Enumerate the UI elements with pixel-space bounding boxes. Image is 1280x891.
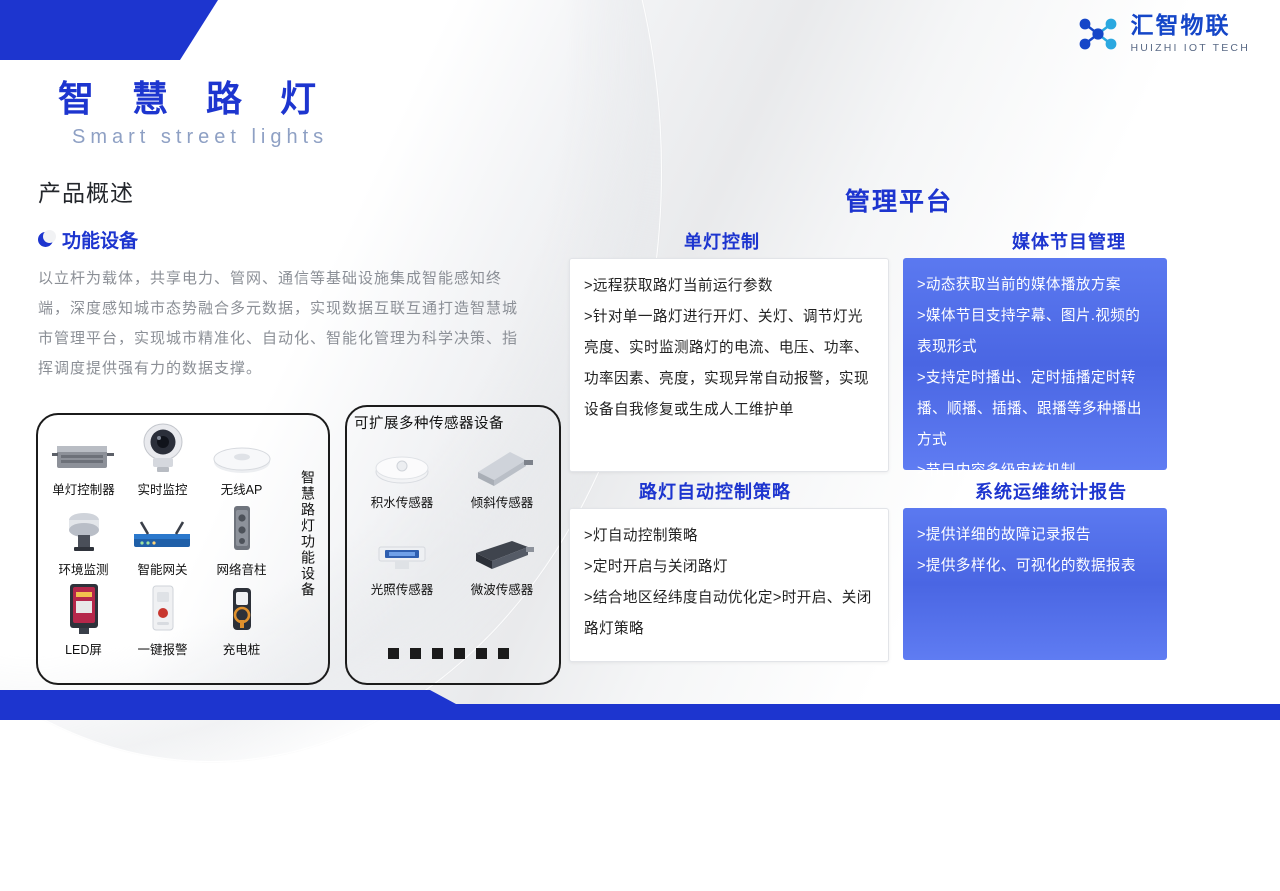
subsection-label: 功能设备 xyxy=(62,226,138,253)
function-devices-grid: 单灯控制器 实时监控 无线AP xyxy=(44,422,282,662)
column-title-single-lamp: 单灯控制 xyxy=(684,228,760,254)
column-title-auto-strategy: 路灯自动控制策略 xyxy=(639,478,791,504)
water-level-sensor-icon xyxy=(352,432,452,488)
dot xyxy=(454,648,465,659)
emergency-call-icon xyxy=(123,582,202,636)
sensor-caption: 倾斜传感器 xyxy=(452,492,552,511)
panel-line: >灯自动控制策略 xyxy=(584,521,874,552)
device-caption: 一键报警 xyxy=(123,639,202,658)
light-sensor-icon xyxy=(352,519,452,575)
sensor-caption: 积水传感器 xyxy=(352,492,452,511)
device-caption: 智能网关 xyxy=(123,559,202,578)
microwave-sensor-icon xyxy=(452,519,552,575)
panel-line: >提供多样化、可视化的数据报表 xyxy=(917,551,1153,582)
device-item: 网络音柱 xyxy=(202,502,281,578)
moon-icon xyxy=(38,232,53,247)
function-devices-vertical-label: 智慧路灯功能设备 xyxy=(298,470,318,670)
logo-text-en: HUIZHI IOT TECH xyxy=(1130,42,1250,54)
panel-auto-control-strategy: >灯自动控制策略 >定时开启与关闭路灯 >结合地区经纬度自动优化定>时开启、关闭… xyxy=(569,508,889,662)
section-title-overview: 产品概述 xyxy=(38,174,134,208)
sensor-item: 微波传感器 xyxy=(452,519,552,598)
speaker-column-icon xyxy=(202,502,281,556)
page-title: 智 慧 路 灯 xyxy=(58,70,330,122)
environment-sensor-icon xyxy=(44,502,123,556)
device-item: 智能网关 xyxy=(123,502,202,578)
panel-media-program-management: >动态获取当前的媒体播放方案 >媒体节目支持字幕、图片.视频的表现形式 >支持定… xyxy=(903,258,1167,470)
dot xyxy=(432,648,443,659)
device-item: LED屏 xyxy=(44,582,123,658)
wireless-ap-icon xyxy=(202,422,281,476)
dot xyxy=(498,648,509,659)
sensor-dot-indicators xyxy=(388,648,509,659)
device-item: 充电桩 xyxy=(202,582,281,658)
logo-text-cn: 汇智物联 xyxy=(1130,14,1250,37)
panel-ops-statistics-report: >提供详细的故障记录报告 >提供多样化、可视化的数据报表 xyxy=(903,508,1167,660)
power-supply-icon xyxy=(44,422,123,476)
panel-single-lamp-control: >远程获取路灯当前运行参数 >针对单一路灯进行开灯、关灯、调节灯光亮度、实时监测… xyxy=(569,258,889,472)
dot xyxy=(388,648,399,659)
device-item: 环境监测 xyxy=(44,502,123,578)
device-caption: LED屏 xyxy=(44,639,123,658)
molecule-icon xyxy=(1076,14,1120,54)
panel-line: >媒体节目支持字幕、图片.视频的表现形式 xyxy=(917,301,1153,363)
device-item: 一键报警 xyxy=(123,582,202,658)
top-left-blue-bar xyxy=(0,0,180,60)
device-item: 实时监控 xyxy=(123,422,202,498)
page-subtitle: Smart street lights xyxy=(72,126,328,149)
sensor-item: 积水传感器 xyxy=(352,432,452,511)
device-caption: 网络音柱 xyxy=(202,559,281,578)
device-caption: 充电桩 xyxy=(202,639,281,658)
panel-line: >结合地区经纬度自动优化定>时开启、关闭路灯策略 xyxy=(584,583,874,645)
sensor-caption: 微波传感器 xyxy=(452,579,552,598)
sensor-item: 倾斜传感器 xyxy=(452,432,552,511)
dot xyxy=(476,648,487,659)
sensor-caption: 光照传感器 xyxy=(352,579,452,598)
device-caption: 单灯控制器 xyxy=(44,479,123,498)
device-caption: 无线AP xyxy=(202,479,281,498)
led-screen-icon xyxy=(44,582,123,636)
brand-logo: 汇智物联 HUIZHI IOT TECH xyxy=(1076,14,1250,54)
panel-line: >远程获取路灯当前运行参数 xyxy=(584,271,874,302)
charging-pile-icon xyxy=(202,582,281,636)
device-caption: 环境监测 xyxy=(44,559,123,578)
panel-line: >定时开启与关闭路灯 xyxy=(584,552,874,583)
overview-paragraph: 以立杆为载体，共享电力、管网、通信等基础设施集成智能感知终端，深度感知城市态势融… xyxy=(38,264,518,384)
sensor-item: 光照传感器 xyxy=(352,519,452,598)
subsection-title-devices: 功能设备 xyxy=(38,226,138,253)
device-item: 单灯控制器 xyxy=(44,422,123,498)
sensor-grid: 积水传感器 倾斜传感器 光照传感器 xyxy=(352,432,552,606)
column-title-ops-report: 系统运维统计报告 xyxy=(975,478,1127,504)
extendable-sensors-title: 可扩展多种传感器设备 xyxy=(354,412,504,433)
bottom-blue-bar xyxy=(0,704,1280,720)
panel-line: >支持定时播出、定时插播定时转播、顺播、插播、跟播等多种播出方式 xyxy=(917,363,1153,456)
dot xyxy=(410,648,421,659)
panel-line: >动态获取当前的媒体播放方案 xyxy=(917,270,1153,301)
device-caption: 实时监控 xyxy=(123,479,202,498)
platform-title: 管理平台 xyxy=(845,182,953,218)
panel-line: >针对单一路灯进行开灯、关灯、调节灯光亮度、实时监测路灯的电流、电压、功率、功率… xyxy=(584,302,874,426)
panel-line: >提供详细的故障记录报告 xyxy=(917,520,1153,551)
gateway-router-icon xyxy=(123,502,202,556)
device-item: 无线AP xyxy=(202,422,281,498)
cctv-camera-icon xyxy=(123,422,202,476)
column-title-media: 媒体节目管理 xyxy=(1012,228,1126,254)
tilt-sensor-icon xyxy=(452,432,552,488)
